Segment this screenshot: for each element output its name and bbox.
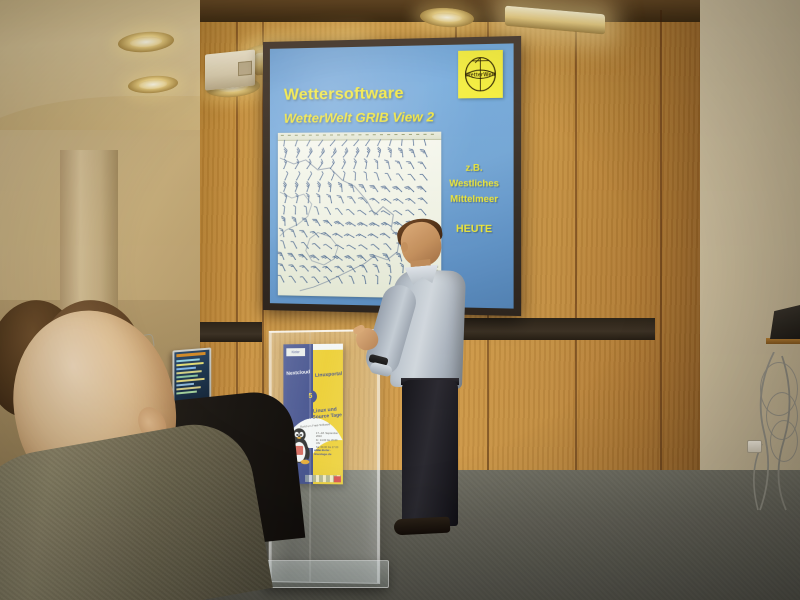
wood-seam xyxy=(660,10,662,530)
conference-room-photo: Wettersoftware WetterWelt GRIB View 2 We… xyxy=(0,0,800,600)
laptop-display xyxy=(174,350,209,402)
note-line-2: Westliches xyxy=(449,178,499,188)
note-line-3: Mittelmeer xyxy=(450,194,498,205)
note-line-1: z.B. xyxy=(466,162,483,172)
wall-outlet xyxy=(747,440,762,453)
wetterwelt-logo: WetterWelt xyxy=(458,50,503,99)
presenter xyxy=(380,222,475,522)
wood-seam xyxy=(575,22,577,522)
slide-subtitle: WetterWelt GRIB View 2 xyxy=(284,109,434,126)
wall-speaker xyxy=(205,49,255,90)
slide-title: Wettersoftware xyxy=(284,85,404,105)
logo-label: WetterWelt xyxy=(458,72,503,79)
presenter-shoe xyxy=(394,517,451,536)
presenter-ear xyxy=(401,242,408,252)
hanging-cables xyxy=(738,352,800,512)
wall-dark-band xyxy=(455,318,655,340)
wall-dark-band xyxy=(200,322,262,342)
presenter-trousers xyxy=(402,380,458,526)
lectern-base xyxy=(262,560,389,588)
